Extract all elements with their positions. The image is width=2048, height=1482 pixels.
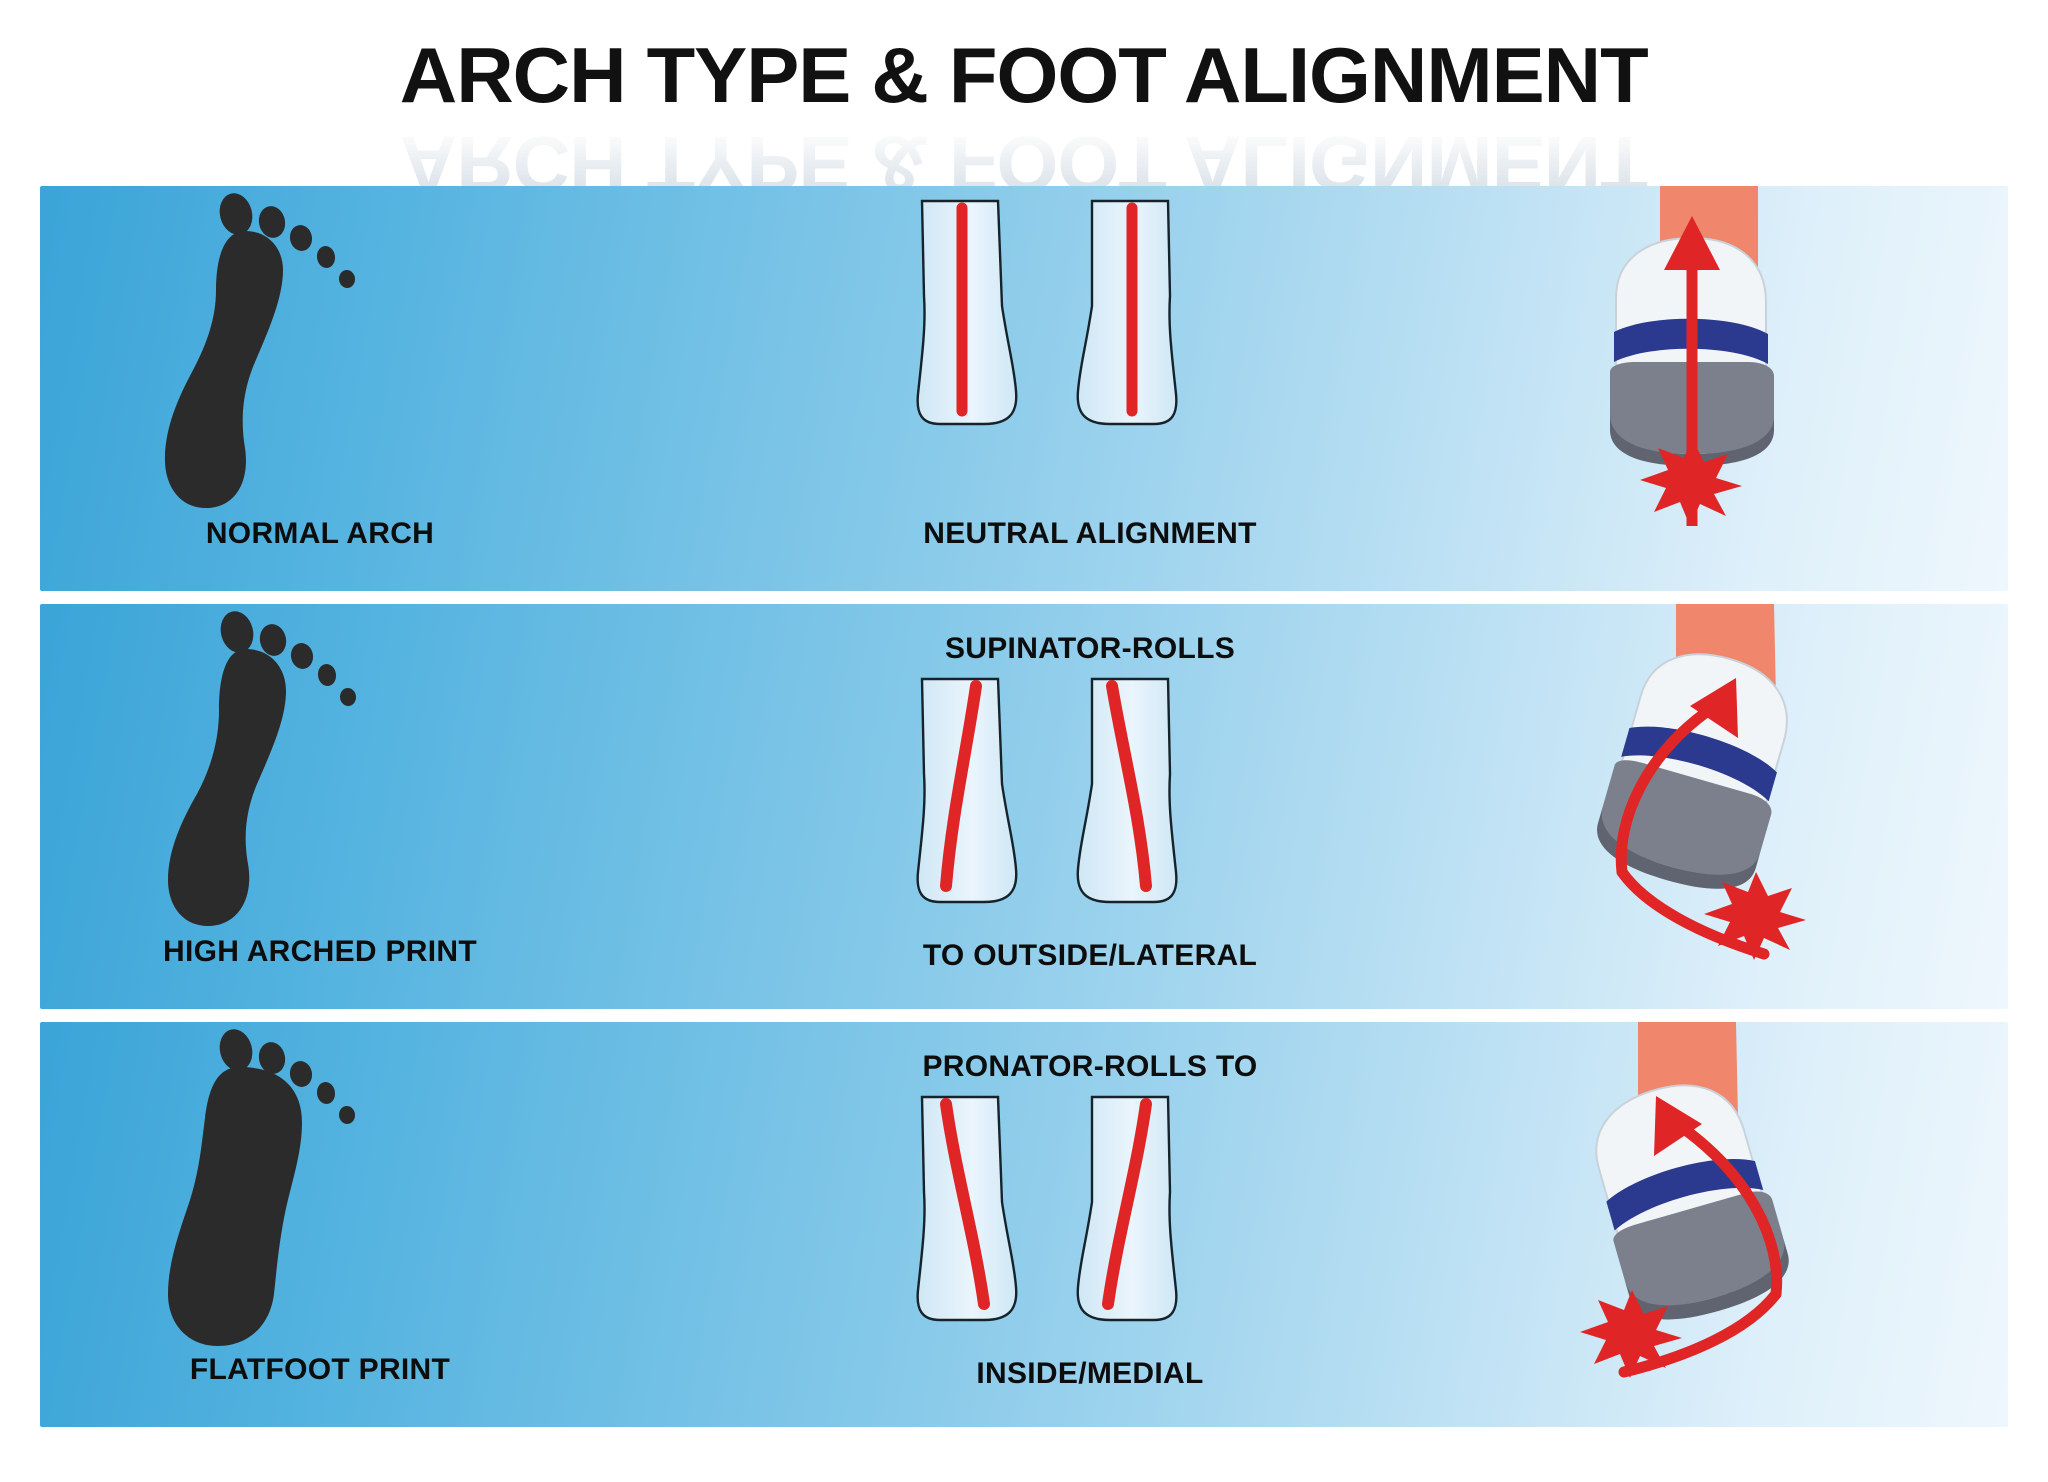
row-high-arch: HIGH ARCHED PRINT SUPINATOR-ROLLS [40,604,2008,1009]
supinated-shoe-column [1580,604,2008,1009]
infographic-poster: ARCH TYPE & FOOT ALIGNMENT ARCH TYPE & F… [0,0,2048,1434]
pronated-shoe-rearfoot-icon [1580,1022,2008,1427]
row-normal-arch: NORMAL ARCH [40,186,2008,591]
neutral-shoe-rearfoot-icon [1580,186,2008,591]
pronated-shoe-column [1580,1022,2008,1427]
page-title: ARCH TYPE & FOOT ALIGNMENT [0,30,2048,121]
flatfoot-print-caption: FLATFOOT PRINT [40,1353,600,1387]
supinator-alignment-column: SUPINATOR-ROLLS TO OUTSID [740,604,1440,1009]
high-arch-print-column: HIGH ARCHED PRINT [40,604,600,1009]
row-flatfoot: FLATFOOT PRINT PRONATOR-ROLLS TO [40,1022,2008,1427]
normal-arch-print-caption: NORMAL ARCH [40,517,600,551]
supinator-caption-line2: TO OUTSIDE/LATERAL [740,939,1440,973]
pronator-caption-line2: INSIDE/MEDIAL [740,1357,1440,1391]
neutral-alignment-column: NEUTRAL ALIGNMENT [740,186,1440,591]
normal-arch-print-column: NORMAL ARCH [40,186,600,591]
supinated-shoe-rearfoot-icon [1580,604,2008,1009]
neutral-shoe-column [1580,186,2008,591]
page-title-text: ARCH TYPE & FOOT ALIGNMENT [400,30,1648,121]
neutral-alignment-caption: NEUTRAL ALIGNMENT [740,517,1440,551]
pronator-alignment-column: PRONATOR-ROLLS TO INSIDE/ [740,1022,1440,1427]
flatfoot-print-column: FLATFOOT PRINT [40,1022,600,1427]
high-arch-print-caption: HIGH ARCHED PRINT [40,935,600,969]
